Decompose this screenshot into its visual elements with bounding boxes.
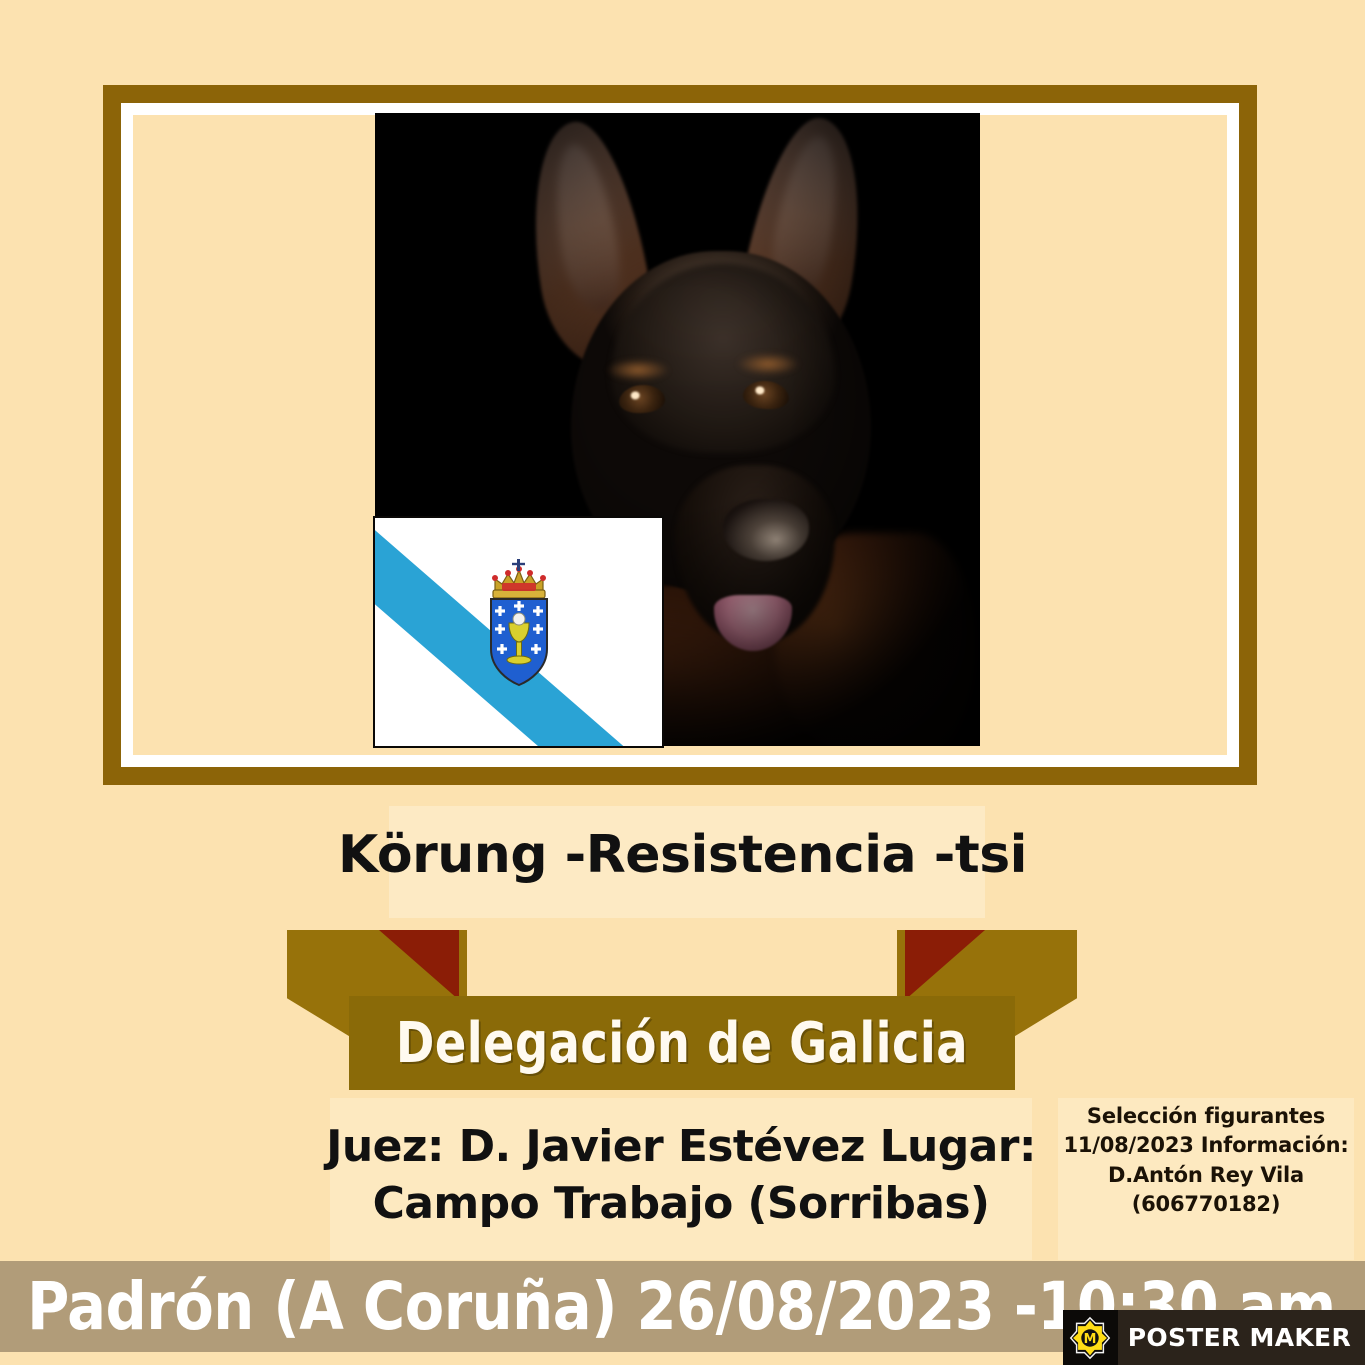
notice-block: Selección figurantes 11/08/2023 Informac… [1056, 1102, 1356, 1220]
notice-line-contact-name: D.Antón Rey Vila [1056, 1161, 1356, 1190]
sun-badge-icon: M [1068, 1316, 1112, 1360]
event-details: Juez: D. Javier Estévez Lugar: Campo Tra… [326, 1118, 1036, 1232]
notice-line-date-info: 11/08/2023 Información: [1056, 1131, 1356, 1160]
poster-title: Körung -Resistencia -tsi [0, 825, 1365, 885]
poster-canvas: Körung -Resistencia -tsi Delegación de G… [0, 0, 1365, 1365]
poster-maker-logo-icon: M [1063, 1310, 1118, 1365]
notice-line-contact-phone: (606770182) [1056, 1190, 1356, 1219]
galicia-coat-of-arms-icon [471, 557, 567, 689]
delegation-ribbon: Delegación de Galicia [287, 930, 1077, 1090]
poster-maker-watermark[interactable]: M POSTER MAKER [1063, 1310, 1365, 1365]
poster-maker-label: POSTER MAKER [1118, 1323, 1365, 1352]
details-line-judge: Juez: D. Javier Estévez Lugar: [326, 1118, 1036, 1175]
details-line-venue: Campo Trabajo (Sorribas) [326, 1175, 1036, 1232]
logo-letter: M [1084, 1332, 1097, 1347]
galicia-flag [375, 518, 662, 746]
ribbon-label: Delegación de Galicia [396, 1011, 968, 1076]
ribbon-band: Delegación de Galicia [349, 996, 1015, 1090]
notice-line-selection: Selección figurantes [1056, 1102, 1356, 1131]
